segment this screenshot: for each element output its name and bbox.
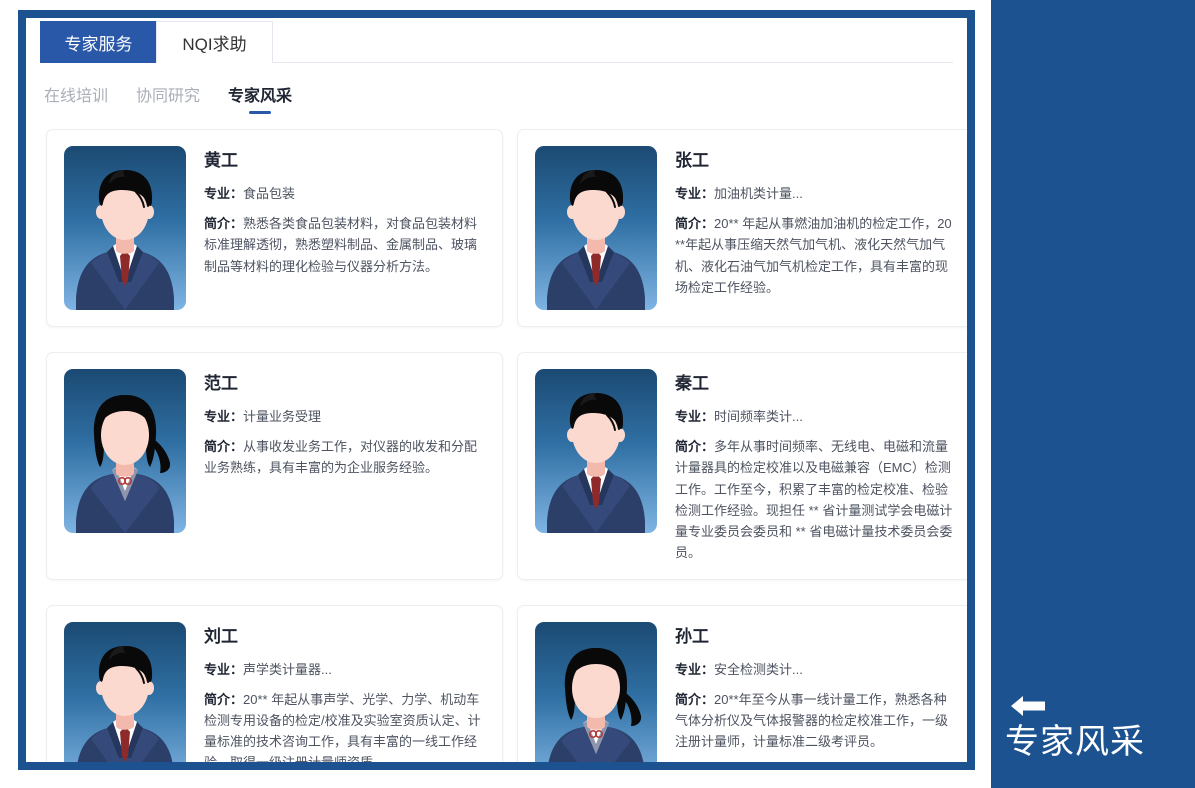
- expert-intro-row: 简介：20**年至今从事一线计量工作，熟悉各种气体分析仪及气体报警器的检定校准工…: [675, 689, 955, 752]
- subnav-item-1[interactable]: 在线培训: [44, 82, 108, 115]
- expert-major-row: 专业：声学类计量器...: [204, 659, 484, 680]
- avatar: [535, 146, 657, 310]
- expert-name: 刘工: [204, 627, 484, 647]
- expert-card[interactable]: 孙工专业：安全检测类计...简介：20**年至今从事一线计量工作，熟悉各种气体分…: [517, 605, 967, 762]
- expert-info: 黄工专业：食品包装简介：熟悉各类食品包装材料，对食品包装材料标准理解透彻，熟悉塑…: [204, 146, 484, 310]
- expert-intro-row: 简介：熟悉各类食品包装材料，对食品包装材料标准理解透彻，熟悉塑料制品、金属制品、…: [204, 213, 484, 276]
- expert-name: 秦工: [675, 374, 955, 394]
- arrow-left-icon: [1008, 693, 1048, 719]
- expert-intro-row: 简介：多年从事时间频率、无线电、电磁和流量计量器具的检定校准以及电磁兼容（EMC…: [675, 436, 955, 562]
- expert-name: 黄工: [204, 151, 484, 171]
- expert-intro-value: 20**年至今从事一线计量工作，熟悉各种气体分析仪及气体报警器的检定校准工作，一…: [675, 692, 948, 749]
- expert-intro-label: 简介：: [204, 439, 243, 454]
- expert-intro-label: 简介：: [675, 216, 714, 231]
- expert-major-value: 时间频率类计...: [714, 409, 803, 424]
- expert-intro-value: 从事收发业务工作，对仪器的收发和分配业务熟练，具有丰富的为企业服务经验。: [204, 439, 477, 475]
- expert-info: 张工专业：加油机类计量...简介：20** 年起从事燃油加油机的检定工作，20*…: [675, 146, 955, 310]
- expert-intro-row: 简介：从事收发业务工作，对仪器的收发和分配业务熟练，具有丰富的为企业服务经验。: [204, 436, 484, 478]
- expert-info: 秦工专业：时间频率类计...简介：多年从事时间频率、无线电、电磁和流量计量器具的…: [675, 369, 955, 563]
- expert-intro-label: 简介：: [675, 439, 714, 454]
- expert-major-label: 专业：: [675, 409, 714, 424]
- expert-major-label: 专业：: [204, 662, 243, 677]
- expert-major-label: 专业：: [204, 409, 243, 424]
- annotation-panel: 专家风采: [991, 0, 1195, 788]
- content-window-inner: 专家服务NQI求助 在线培训协同研究专家风采: [26, 18, 967, 762]
- expert-major-value: 计量业务受理: [243, 409, 321, 424]
- expert-major-row: 专业：安全检测类计...: [675, 659, 955, 680]
- expert-major-row: 专业：食品包装: [204, 183, 484, 204]
- expert-major-label: 专业：: [204, 186, 243, 201]
- expert-name: 张工: [675, 151, 955, 171]
- primary-tabbar: 专家服务NQI求助: [40, 18, 953, 63]
- expert-intro-value: 熟悉各类食品包装材料，对食品包装材料标准理解透彻，熟悉塑料制品、金属制品、玻璃制…: [204, 216, 477, 273]
- tab-label: NQI求助: [182, 30, 246, 55]
- expert-major-label: 专业：: [675, 186, 714, 201]
- expert-card[interactable]: 范工专业：计量业务受理简介：从事收发业务工作，对仪器的收发和分配业务熟练，具有丰…: [46, 352, 503, 580]
- subnav-item-3[interactable]: 专家风采: [228, 82, 292, 115]
- avatar: [535, 622, 657, 762]
- tab-1[interactable]: 专家服务: [40, 21, 157, 63]
- tab-label: 专家服务: [65, 30, 133, 55]
- expert-card[interactable]: 秦工专业：时间频率类计...简介：多年从事时间频率、无线电、电磁和流量计量器具的…: [517, 352, 967, 580]
- content-window-frame: 专家服务NQI求助 在线培训协同研究专家风采: [18, 10, 975, 770]
- tab-2[interactable]: NQI求助: [156, 21, 273, 63]
- expert-major-value: 声学类计量器...: [243, 662, 332, 677]
- expert-intro-value: 多年从事时间频率、无线电、电磁和流量计量器具的检定校准以及电磁兼容（EMC）检测…: [675, 439, 952, 559]
- avatar: [64, 622, 186, 762]
- expert-intro-label: 简介：: [204, 692, 243, 707]
- expert-intro-label: 简介：: [204, 216, 243, 231]
- expert-info: 刘工专业：声学类计量器...简介：20** 年起从事声学、光学、力学、机动车检测…: [204, 622, 484, 762]
- expert-intro-value: 20** 年起从事声学、光学、力学、机动车检测专用设备的检定/校准及实验室资质认…: [204, 692, 481, 762]
- secondary-nav: 在线培训协同研究专家风采: [26, 63, 967, 115]
- screen-root: 专家服务NQI求助 在线培训协同研究专家风采: [0, 0, 1195, 788]
- annotation-label: 专家风采: [1005, 724, 1145, 761]
- avatar: [535, 369, 657, 533]
- avatar: [64, 369, 186, 533]
- expert-name: 范工: [204, 374, 484, 394]
- expert-info: 孙工专业：安全检测类计...简介：20**年至今从事一线计量工作，熟悉各种气体分…: [675, 622, 955, 762]
- expert-major-row: 专业：加油机类计量...: [675, 183, 955, 204]
- expert-major-row: 专业：计量业务受理: [204, 406, 484, 427]
- expert-major-value: 食品包装: [243, 186, 295, 201]
- expert-card-grid: 黄工专业：食品包装简介：熟悉各类食品包装材料，对食品包装材料标准理解透彻，熟悉塑…: [26, 115, 967, 762]
- expert-intro-label: 简介：: [675, 692, 714, 707]
- expert-intro-row: 简介：20** 年起从事声学、光学、力学、机动车检测专用设备的检定/校准及实验室…: [204, 689, 484, 762]
- expert-major-row: 专业：时间频率类计...: [675, 406, 955, 427]
- expert-major-label: 专业：: [675, 662, 714, 677]
- expert-intro-row: 简介：20** 年起从事燃油加油机的检定工作，20**年起从事压缩天然气加气机、…: [675, 213, 955, 297]
- expert-major-value: 安全检测类计...: [714, 662, 803, 677]
- expert-intro-value: 20** 年起从事燃油加油机的检定工作，20**年起从事压缩天然气加气机、液化天…: [675, 216, 952, 294]
- expert-name: 孙工: [675, 627, 955, 647]
- expert-card[interactable]: 张工专业：加油机类计量...简介：20** 年起从事燃油加油机的检定工作，20*…: [517, 129, 967, 327]
- expert-card[interactable]: 黄工专业：食品包装简介：熟悉各类食品包装材料，对食品包装材料标准理解透彻，熟悉塑…: [46, 129, 503, 327]
- avatar: [64, 146, 186, 310]
- expert-card[interactable]: 刘工专业：声学类计量器...简介：20** 年起从事声学、光学、力学、机动车检测…: [46, 605, 503, 762]
- expert-major-value: 加油机类计量...: [714, 186, 803, 201]
- subnav-item-2[interactable]: 协同研究: [136, 82, 200, 115]
- expert-info: 范工专业：计量业务受理简介：从事收发业务工作，对仪器的收发和分配业务熟练，具有丰…: [204, 369, 484, 563]
